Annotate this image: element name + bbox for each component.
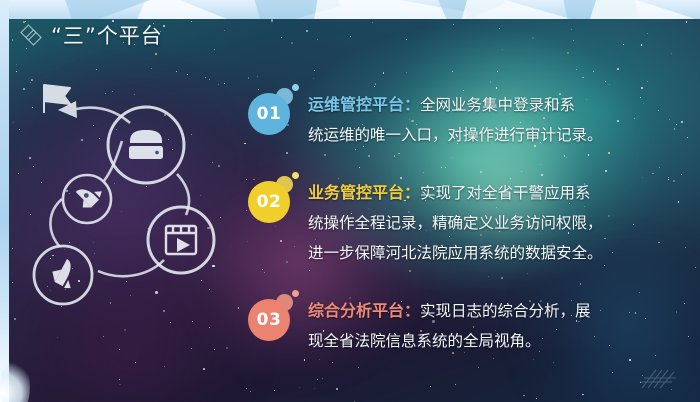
badge-dot-small [292,84,299,91]
list-item: 01 运维管控平台：全网业务集中登录和系 统运维的唯一入口，对操作进行审计记录。 [248,84,686,150]
item-line: 现全省法院信息系统的全局视角。 [308,326,686,356]
item-line: 进一步保障河北法院应用系统的数据安全。 [308,238,686,268]
item-line-text: 实现了对全省干警应用系 [420,184,591,202]
badge-number: 02 [248,181,290,223]
missile-icon [48,256,82,291]
item-line: 统操作全程记录，精确定义业务访问权限， [308,208,686,238]
item-line: 综合分析平台：实现日志的综合分析，展 [308,296,686,326]
item-text-block: 综合分析平台：实现日志的综合分析，展 现全省法院信息系统的全局视角。 [308,290,686,356]
item-lead: 综合分析平台： [308,301,420,320]
item-text-block: 业务管控平台：实现了对全省干警应用系 统操作全程记录，精确定义业务访问权限， 进… [308,172,686,268]
rocket-node [63,175,111,223]
item-line-text: 全网业务集中登录和系 [420,96,575,114]
list-item: 02 业务管控平台：实现了对全省干警应用系 统操作全程记录，精确定义业务访问权限… [248,172,686,268]
item-lead: 业务管控平台： [308,183,420,202]
badge-dot-small [292,290,299,297]
item-line: 统运维的唯一入口，对操作进行审计记录。 [308,120,686,150]
item-line: 运维管控平台：全网业务集中登录和系 [308,90,686,120]
node-diagram-illustration [18,75,233,330]
badge-number: 03 [248,299,290,341]
page-header: “三”个平台 [20,20,163,50]
missile-node [34,246,92,304]
top-decorative-band [0,0,700,19]
item-text-block: 运维管控平台：全网业务集中登录和系 统运维的唯一入口，对操作进行审计记录。 [308,84,686,150]
item-line-text: 实现日志的综合分析，展 [420,302,591,320]
platform-list: 01 运维管控平台：全网业务集中登录和系 统运维的唯一入口，对操作进行审计记录。… [248,84,686,356]
server-icon [129,130,163,159]
badge-01: 01 [248,84,308,138]
item-line: 业务管控平台：实现了对全省干警应用系 [308,178,686,208]
badge-03: 03 [248,290,308,344]
rocket-icon [71,178,104,211]
list-item: 03 综合分析平台：实现日志的综合分析，展 现全省法院信息系统的全局视角。 [248,290,686,356]
video-node [148,207,214,273]
signature-watermark [638,366,684,392]
badge-02: 02 [248,172,308,226]
item-lead: 运维管控平台： [308,95,420,114]
slide-canvas: “三”个平台 [0,0,700,402]
double-diamond-icon [20,24,42,46]
badge-dot-small [292,172,299,179]
badge-number: 01 [248,93,290,135]
page-title: “三”个平台 [51,20,163,50]
left-edge-strip [0,0,9,402]
